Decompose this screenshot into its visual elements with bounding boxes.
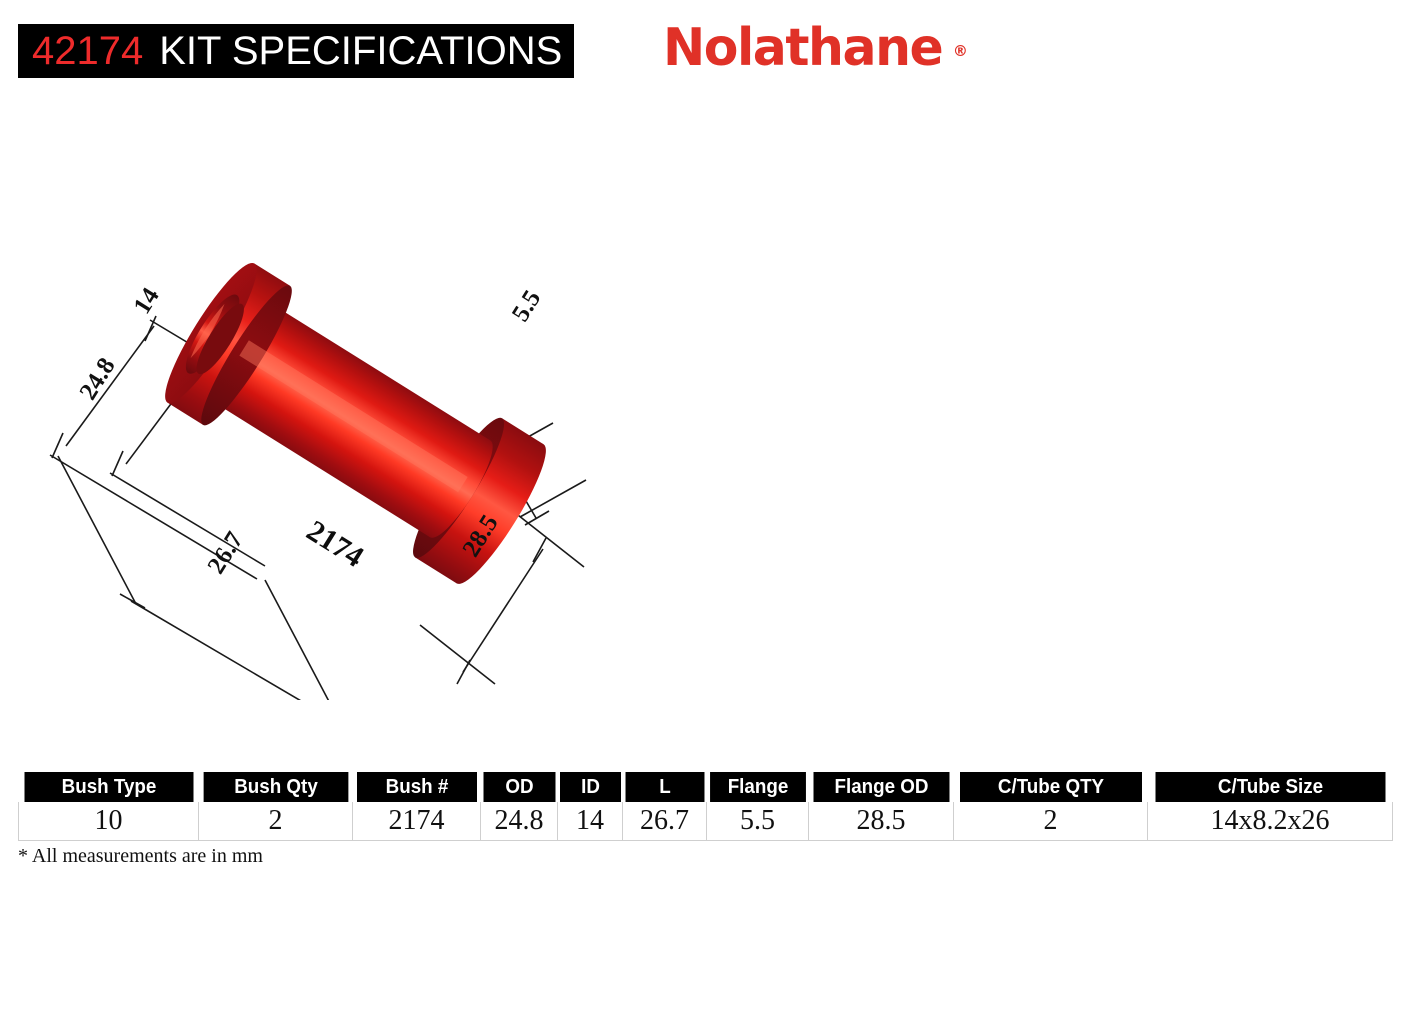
- column-header-bush-type: Bush Type: [24, 772, 193, 802]
- specification-table-container: Bush Type Bush Qty Bush # OD ID L Flange…: [18, 772, 1392, 841]
- column-header-od: OD: [483, 772, 555, 802]
- brand-wordmark: Nolathane: [663, 22, 942, 74]
- column-header-id: ID: [559, 772, 620, 802]
- cell-bush-type: 10: [19, 802, 199, 841]
- brand-logo: Nolathane ®: [663, 22, 968, 74]
- cell-bush-number: 2174: [353, 802, 481, 841]
- table-header-row: Bush Type Bush Qty Bush # OD ID L Flange…: [19, 772, 1393, 802]
- cell-flange-od: 28.5: [809, 802, 954, 841]
- cell-od: 24.8: [481, 802, 558, 841]
- column-header-ctube-size: C/Tube Size: [1155, 772, 1385, 802]
- header-banner: 42174 KIT SPECIFICATIONS: [18, 24, 574, 78]
- column-header-bush-number: Bush #: [356, 772, 476, 802]
- registered-trademark-icon: ®: [953, 44, 968, 59]
- dimension-label-flange: 5.5: [507, 286, 546, 327]
- dimension-label-id: 14: [129, 283, 165, 319]
- dimension-label-length: 26.7: [203, 527, 249, 578]
- cell-id: 14: [558, 802, 623, 841]
- cell-ctube-qty: 2: [954, 802, 1148, 841]
- column-header-flange-od: Flange OD: [813, 772, 949, 802]
- kit-number: 42174: [32, 31, 143, 71]
- cell-bush-qty: 2: [199, 802, 353, 841]
- table-row: 10 2 2174 24.8 14 26.7 5.5 28.5 2 14x8.2…: [19, 802, 1393, 841]
- part-number-label: 2174: [301, 514, 369, 574]
- column-header-ctube-qty: C/Tube QTY: [959, 772, 1141, 802]
- page-title: KIT SPECIFICATIONS: [159, 31, 562, 71]
- bushing-technical-drawing: 2174 24.8 14 26.7 5.5 28.5: [0, 120, 700, 700]
- cell-flange: 5.5: [707, 802, 809, 841]
- drawing-svg: 2174 24.8 14 26.7 5.5 28.5: [0, 120, 700, 700]
- table-footnote: * All measurements are in mm: [18, 845, 263, 868]
- column-header-bush-qty: Bush Qty: [203, 772, 348, 802]
- column-header-l: L: [625, 772, 704, 802]
- specification-table: Bush Type Bush Qty Bush # OD ID L Flange…: [18, 772, 1393, 841]
- cell-l: 26.7: [623, 802, 707, 841]
- dimension-label-od: 24.8: [75, 353, 121, 404]
- cell-ctube-size: 14x8.2x26: [1148, 802, 1393, 841]
- column-header-flange: Flange: [710, 772, 806, 802]
